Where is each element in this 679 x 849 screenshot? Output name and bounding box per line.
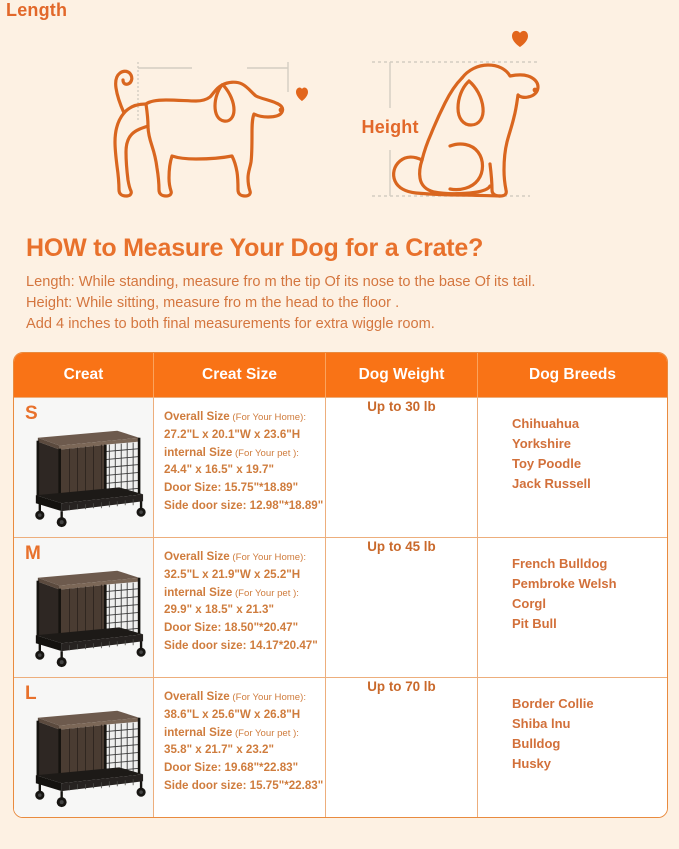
size-line: 38.6"L x 25.6"W x 26.8"H [164,706,317,724]
crate-image-cell: L [14,677,154,817]
dog-weight-value: Up to 70 lb [367,679,435,694]
size-line: Overall Size (For Your Home): [164,548,317,566]
table-row: LOverall Size (For Your Home):38.6"L x 2… [14,677,667,817]
table-body: SOverall Size (For Your Home):27.2"L x 2… [14,397,667,817]
column-header-crate-size: Creat Size [154,353,326,397]
heart-icon [512,31,528,47]
size-line: 35.8" x 21.7" x 23.2" [164,741,317,759]
size-line: internal Size (For Your pet ): [164,584,317,602]
dog-breed-item: Corgl [512,594,659,614]
size-line: 32.5"L x 21.9"W x 25.2"H [164,566,317,584]
dog-breed-item: Shiba lnu [512,714,659,734]
crate-size-letter: S [25,403,38,425]
dog-breed-item: Yorkshire [512,434,659,454]
length-label: Length [0,0,73,21]
table-header: Creat Creat Size Dog Weight Dog Breeds [14,353,667,397]
crate-size-cell: Overall Size (For Your Home):38.6"L x 25… [154,677,326,817]
table-header-row: Creat Creat Size Dog Weight Dog Breeds [14,353,667,397]
dog-weight-value: Up to 30 lb [367,399,435,414]
size-line: 24.4" x 16.5" x 19.7" [164,461,317,479]
dog-breed-item: Pembroke Welsh [512,574,659,594]
dog-breed-item: Pit Bull [512,614,659,634]
dog-standing-outline-icon [0,0,340,228]
crate-size-cell: Overall Size (For Your Home):32.5"L x 21… [154,537,326,677]
height-illustration: Height [340,0,679,228]
column-header-dog-breeds: Dog Breeds [478,353,667,397]
measurement-illustrations: Length [0,0,679,228]
crate-image-cell: S [14,397,154,537]
size-line: 27.2"L x 20.1"W x 23.6"H [164,426,317,444]
column-header-dog-weight: Dog Weight [326,353,478,397]
instruction-line-3: Add 4 inches to both final measurements … [26,314,653,335]
instruction-line-2: Height: While sitting, measure fro m the… [26,293,653,314]
table-row: SOverall Size (For Your Home):27.2"L x 2… [14,397,667,537]
dog-breed-item: Toy Poodle [512,454,659,474]
dog-breed-item: Bulldog [512,734,659,754]
size-line: Side door size: 15.75"*22.83" [164,777,317,795]
dog-breed-item: Husky [512,754,659,774]
height-label: Height [356,117,425,138]
size-line: 29.9" x 18.5" x 21.3" [164,601,317,619]
dog-breeds-cell: French BulldogPembroke WelshCorglPit Bul… [478,537,667,677]
size-line: Overall Size (For Your Home): [164,408,317,426]
crate-size-letter: M [25,543,41,565]
dog-weight-cell: Up to 30 lb [326,397,478,537]
dog-breed-item: Jack Russell [512,474,659,494]
heart-icon [296,88,308,101]
crate-image-cell: M [14,537,154,677]
dog-breed-item: Chihuahua [512,414,659,434]
infographic-page: Length [0,0,679,849]
dog-breeds-cell: ChihuahuaYorkshireToy PoodleJack Russell [478,397,667,537]
size-table-wrapper: Creat Creat Size Dog Weight Dog Breeds [0,335,679,818]
size-line: Overall Size (For Your Home): [164,688,317,706]
dog-weight-value: Up to 45 lb [367,539,435,554]
dog-breed-item: Border Collie [512,694,659,714]
dog-breeds-cell: Border CollieShiba lnuBulldogHusky [478,677,667,817]
size-line: Side door size: 14.17*20.47" [164,637,317,655]
size-line: Door Size: 18.50"*20.47" [164,619,317,637]
size-line: Door Size: 19.68"*22.83" [164,759,317,777]
size-line: Side door size: 12.98"*18.89" [164,497,317,515]
crate-size-cell: Overall Size (For Your Home):27.2"L x 20… [154,397,326,537]
instruction-line-1: Length: While standing, measure fro m th… [26,272,653,293]
page-title: HOW to Measure Your Dog for a Crate? [26,234,653,263]
crate-size-table: Creat Creat Size Dog Weight Dog Breeds [13,352,668,818]
size-line: internal Size (For Your pet ): [164,444,317,462]
column-header-crate: Creat [14,353,154,397]
dog-sitting-outline-icon [340,0,679,228]
crate-size-letter: L [25,683,37,705]
length-illustration: Length [0,0,340,228]
table-row: MOverall Size (For Your Home):32.5"L x 2… [14,537,667,677]
size-line: Door Size: 15.75"*18.89" [164,479,317,497]
size-line: internal Size (For Your pet ): [164,724,317,742]
dog-weight-cell: Up to 70 lb [326,677,478,817]
dog-breed-item: French Bulldog [512,554,659,574]
dog-weight-cell: Up to 45 lb [326,537,478,677]
headline-section: HOW to Measure Your Dog for a Crate? Len… [0,228,679,335]
